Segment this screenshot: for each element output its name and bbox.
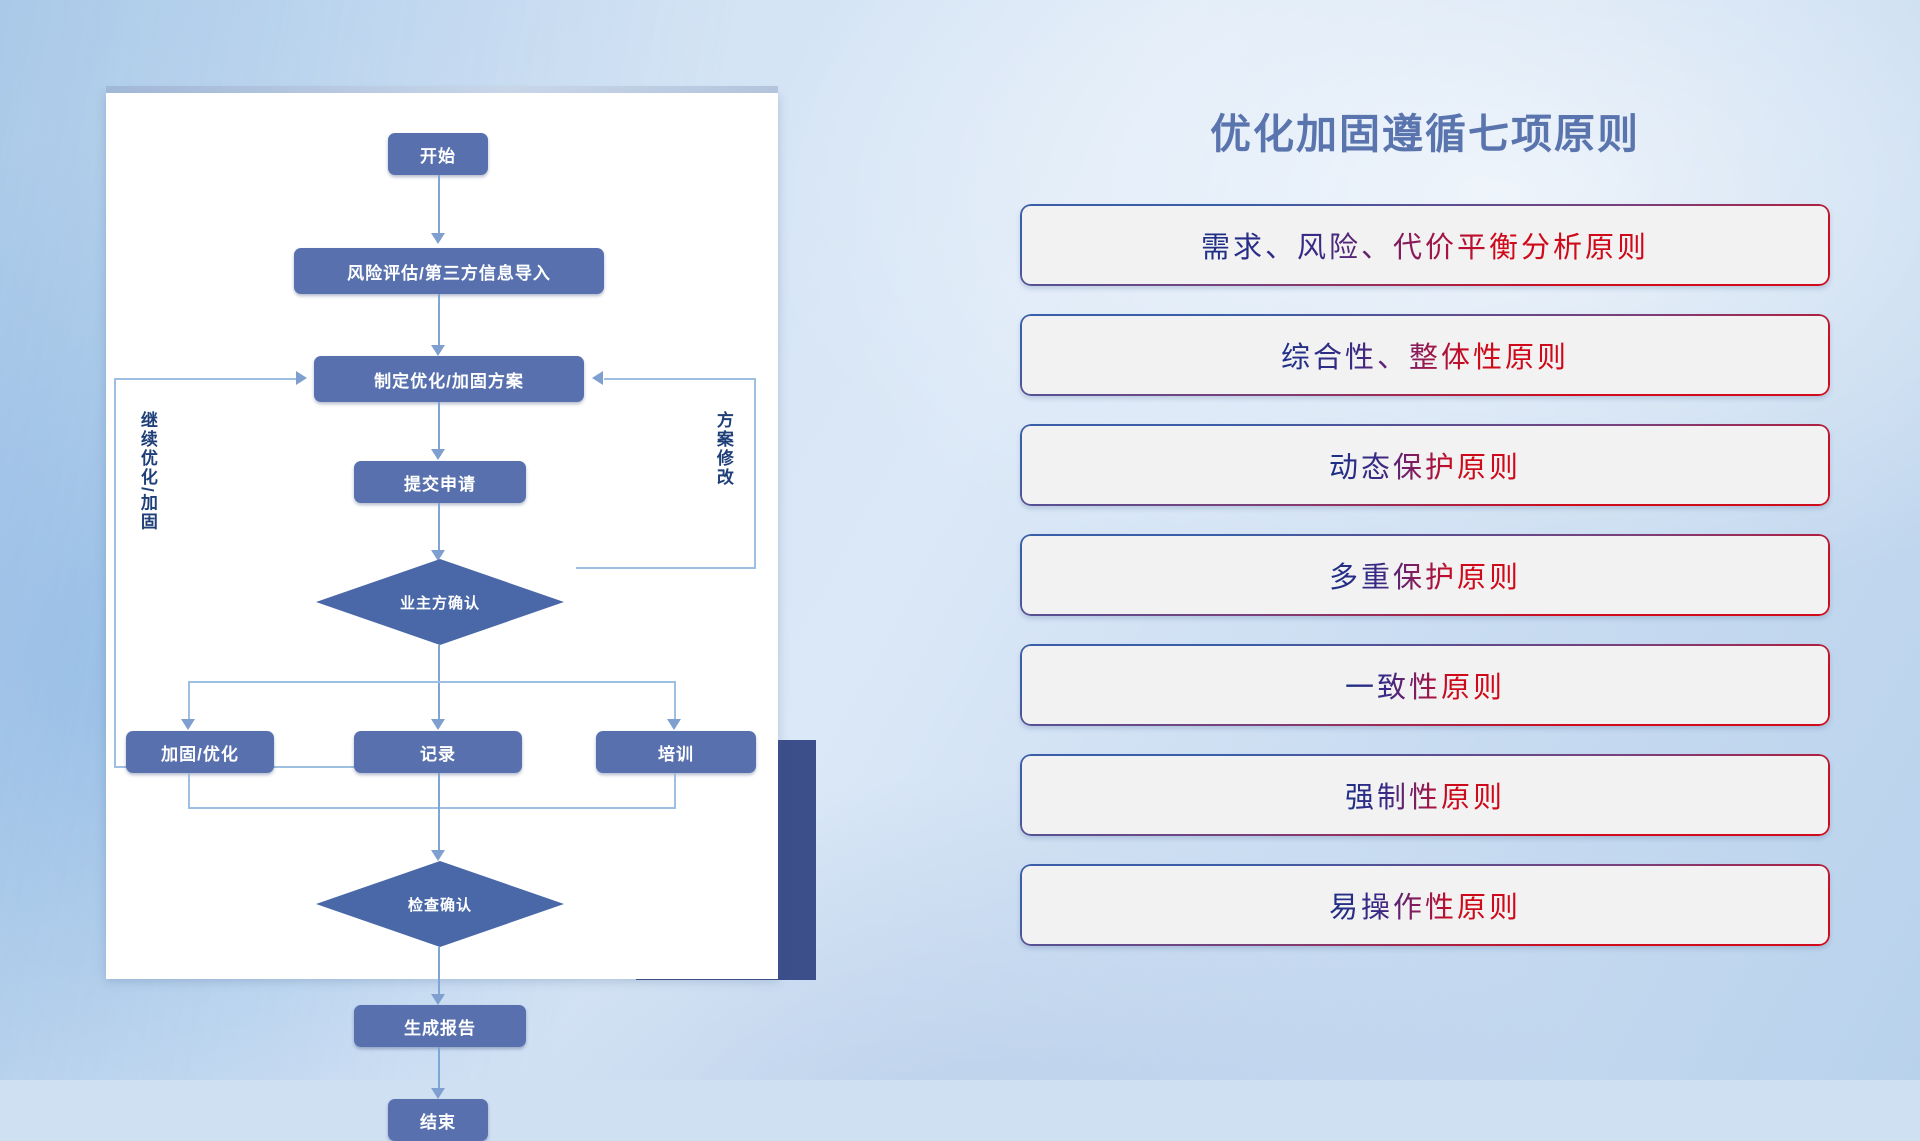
connector-merge-right: [674, 773, 676, 808]
flow-node-label: 检查确认: [408, 894, 472, 915]
connector-check-report: [438, 947, 440, 999]
arrow-down-icon: [181, 719, 195, 730]
flowchart-panel: 开始 风险评估/第三方信息导入 制定优化/加固方案 继续优化/加固 方案修改 提…: [106, 93, 778, 979]
arrow-down-icon: [431, 550, 445, 561]
principle-card-2[interactable]: 综合性、整体性原则: [1020, 314, 1830, 396]
connector-risk-plan: [438, 294, 440, 349]
connector-left-loop-vertical: [114, 378, 116, 768]
principle-card-5[interactable]: 一致性原则: [1020, 644, 1830, 726]
flow-node-label: 业主方确认: [400, 592, 480, 613]
principle-card-6[interactable]: 强制性原则: [1020, 754, 1830, 836]
principle-card-4[interactable]: 多重保护原则: [1020, 534, 1830, 616]
connector-owner-record: [438, 645, 440, 725]
principles-panel: 优化加固遵循七项原则 需求、风险、代价平衡分析原则 综合性、整体性原则 动态保护…: [1020, 100, 1830, 974]
arrow-down-icon: [431, 850, 445, 861]
flow-node-label: 加固/优化: [161, 740, 239, 765]
arrow-down-icon: [431, 1088, 445, 1099]
edge-label-left-loop: 继续优化/加固: [138, 411, 156, 561]
principle-card-3[interactable]: 动态保护原则: [1020, 424, 1830, 506]
connector-record-check: [438, 773, 440, 855]
flow-node-plan[interactable]: 制定优化/加固方案: [314, 356, 584, 402]
principle-label: 强制性原则: [1345, 774, 1505, 816]
connector-left-loop-top: [114, 378, 300, 380]
principle-label: 动态保护原则: [1329, 444, 1521, 486]
principle-card-1[interactable]: 需求、风险、代价平衡分析原则: [1020, 204, 1830, 286]
connector-start-risk: [438, 175, 440, 237]
arrow-down-icon: [431, 449, 445, 460]
connector-report-end: [438, 1047, 440, 1093]
connector-right-loop-top: [604, 378, 756, 380]
principle-label: 易操作性原则: [1329, 884, 1521, 926]
edge-label-right-loop: 方案修改: [714, 411, 732, 521]
flow-node-label: 培训: [658, 740, 694, 765]
arrow-right-icon: [296, 371, 307, 385]
principle-card-7[interactable]: 易操作性原则: [1020, 864, 1830, 946]
flow-node-risk-assessment[interactable]: 风险评估/第三方信息导入: [294, 248, 604, 294]
connector-right-loop-bottom: [576, 567, 756, 569]
arrow-down-icon: [431, 719, 445, 730]
principle-label: 综合性、整体性原则: [1281, 334, 1569, 376]
flow-node-label: 制定优化/加固方案: [374, 367, 524, 392]
connector-split-bar: [188, 681, 676, 683]
flow-node-end[interactable]: 结束: [388, 1099, 488, 1141]
flow-decision-check-confirm[interactable]: 检查确认: [316, 861, 564, 947]
flow-node-start[interactable]: 开始: [388, 133, 488, 175]
flow-node-report[interactable]: 生成报告: [354, 1005, 526, 1047]
flow-node-reinforce[interactable]: 加固/优化: [126, 731, 274, 773]
connector-merge-bar: [188, 807, 676, 809]
flow-node-label: 提交申请: [404, 470, 476, 495]
principle-label: 一致性原则: [1345, 664, 1505, 706]
flow-node-submit[interactable]: 提交申请: [354, 461, 526, 503]
flow-node-label: 生成报告: [404, 1014, 476, 1039]
connector-split-right: [674, 681, 676, 723]
arrow-down-icon: [667, 719, 681, 730]
arrow-left-icon: [592, 371, 603, 385]
arrow-down-icon: [431, 233, 445, 244]
flow-node-training[interactable]: 培训: [596, 731, 756, 773]
flow-decision-owner-confirm[interactable]: 业主方确认: [316, 559, 564, 645]
flow-node-label: 开始: [420, 142, 456, 167]
flow-node-record[interactable]: 记录: [354, 731, 522, 773]
flow-node-label: 结束: [420, 1108, 456, 1133]
principle-label: 多重保护原则: [1329, 554, 1521, 596]
flow-node-label: 记录: [420, 740, 456, 765]
flow-node-label: 风险评估/第三方信息导入: [347, 259, 551, 284]
principle-label: 需求、风险、代价平衡分析原则: [1201, 224, 1649, 266]
arrow-down-icon: [431, 345, 445, 356]
connector-right-loop-vertical: [754, 378, 756, 568]
page-title: 优化加固遵循七项原则: [1020, 100, 1830, 160]
arrow-down-icon: [431, 994, 445, 1005]
connector-submit-owner: [438, 503, 440, 555]
connector-plan-submit: [438, 402, 440, 454]
connector-split-left: [188, 681, 190, 723]
connector-merge-left: [188, 773, 190, 808]
